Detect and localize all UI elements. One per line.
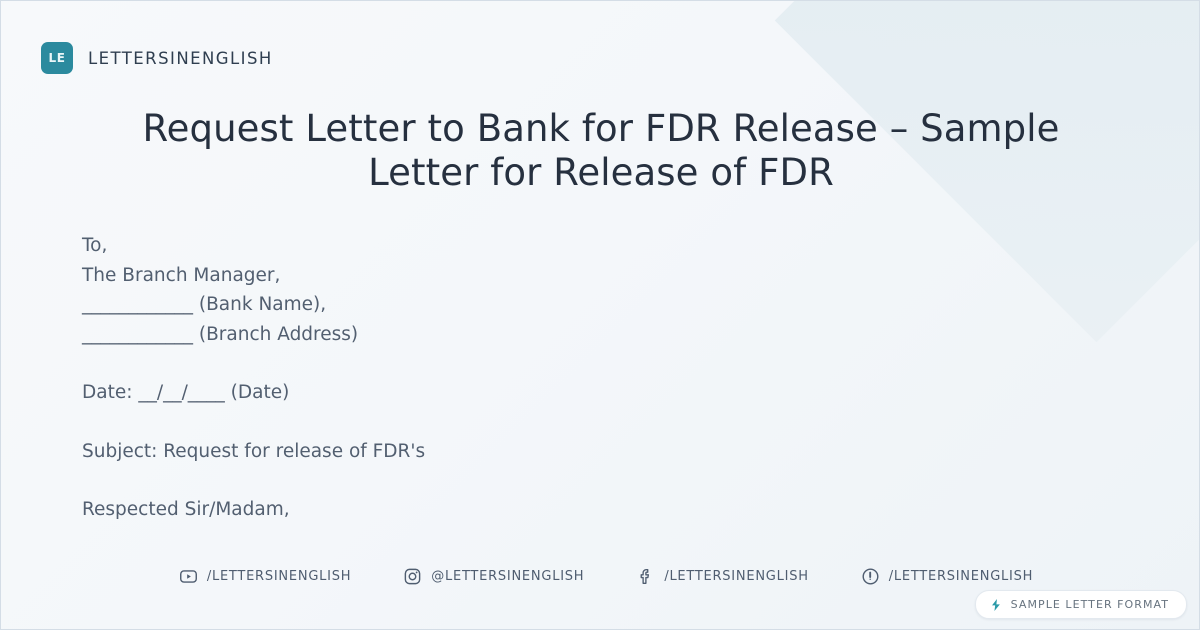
address-line: The Branch Manager, <box>82 261 782 291</box>
salutation-line: Respected Sir/Madam, <box>82 495 782 525</box>
letter-body: To, The Branch Manager, ____________ (Ba… <box>82 231 782 525</box>
social-link-facebook[interactable]: /LETTERSINENGLISH <box>636 567 808 586</box>
salutation-block: Respected Sir/Madam, <box>82 495 782 525</box>
address-line: ____________ (Branch Address) <box>82 320 782 350</box>
pinterest-icon <box>861 567 880 586</box>
sample-letter-format-badge[interactable]: SAMPLE LETTER FORMAT <box>975 590 1187 619</box>
letter-card-canvas: LE LETTERSINENGLISH Request Letter to Ba… <box>0 0 1200 630</box>
youtube-icon <box>179 567 198 586</box>
lightning-bolt-icon <box>989 598 1003 612</box>
social-links-row: /LETTERSINENGLISH @LETTERSINENGLISH /LET… <box>1 567 1200 586</box>
sample-letter-format-label: SAMPLE LETTER FORMAT <box>1011 598 1169 611</box>
brand-wordmark: LETTERSINENGLISH <box>88 49 273 68</box>
facebook-icon <box>636 567 655 586</box>
instagram-icon <box>403 567 422 586</box>
date-block: Date: __/__/____ (Date) <box>82 378 782 408</box>
brand-header: LE LETTERSINENGLISH <box>41 42 273 74</box>
subject-line: Subject: Request for release of FDR's <box>82 437 782 467</box>
brand-badge-text: LE <box>48 51 65 65</box>
page-title: Request Letter to Bank for FDR Release –… <box>91 107 1111 195</box>
date-line: Date: __/__/____ (Date) <box>82 378 782 408</box>
social-link-youtube[interactable]: /LETTERSINENGLISH <box>179 567 351 586</box>
social-link-instagram[interactable]: @LETTERSINENGLISH <box>403 567 584 586</box>
social-link-pinterest[interactable]: /LETTERSINENGLISH <box>861 567 1033 586</box>
address-line: ____________ (Bank Name), <box>82 290 782 320</box>
social-handle: @LETTERSINENGLISH <box>431 569 584 584</box>
address-block: To, The Branch Manager, ____________ (Ba… <box>82 231 782 349</box>
social-handle: /LETTERSINENGLISH <box>664 569 808 584</box>
brand-logo-badge: LE <box>41 42 73 74</box>
social-handle: /LETTERSINENGLISH <box>207 569 351 584</box>
social-handle: /LETTERSINENGLISH <box>889 569 1033 584</box>
subject-block: Subject: Request for release of FDR's <box>82 437 782 467</box>
address-line: To, <box>82 231 782 261</box>
